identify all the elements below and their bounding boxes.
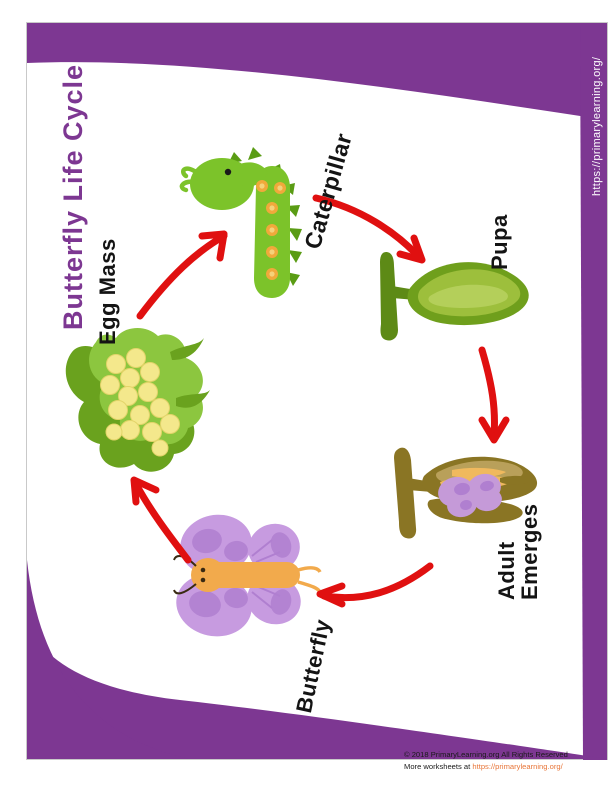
worksheet-page: Butterfly Life Cycle https://primarylear… (0, 0, 612, 792)
footer-more-prefix: More worksheets at (404, 762, 472, 771)
arrow-egg-to-caterpillar (140, 234, 224, 316)
stage-label-egg-mass: Egg Mass (96, 238, 119, 345)
footer: © 2018 PrimaryLearning.org All Rights Re… (404, 749, 604, 773)
illustration-egg-mass (66, 328, 210, 472)
arrow-butterfly-to-egg (134, 480, 188, 560)
footer-more-worksheets: More worksheets at https://primarylearni… (404, 761, 604, 773)
side-url: https://primarylearning.org/ (591, 57, 603, 196)
stage-label-pupa: Pupa (488, 214, 511, 270)
stage-label-adult-emerges: Adult Emerges (495, 504, 541, 600)
page-title: Butterfly Life Cycle (58, 64, 89, 330)
footer-url[interactable]: https://primarylearning.org/ (472, 762, 562, 771)
footer-copyright: © 2018 PrimaryLearning.org All Rights Re… (404, 749, 604, 761)
arrow-adult-to-butterfly (320, 566, 430, 604)
arrow-pupa-to-adult (482, 350, 506, 440)
illustration-caterpillar (182, 147, 302, 298)
illustration-butterfly (170, 508, 320, 643)
